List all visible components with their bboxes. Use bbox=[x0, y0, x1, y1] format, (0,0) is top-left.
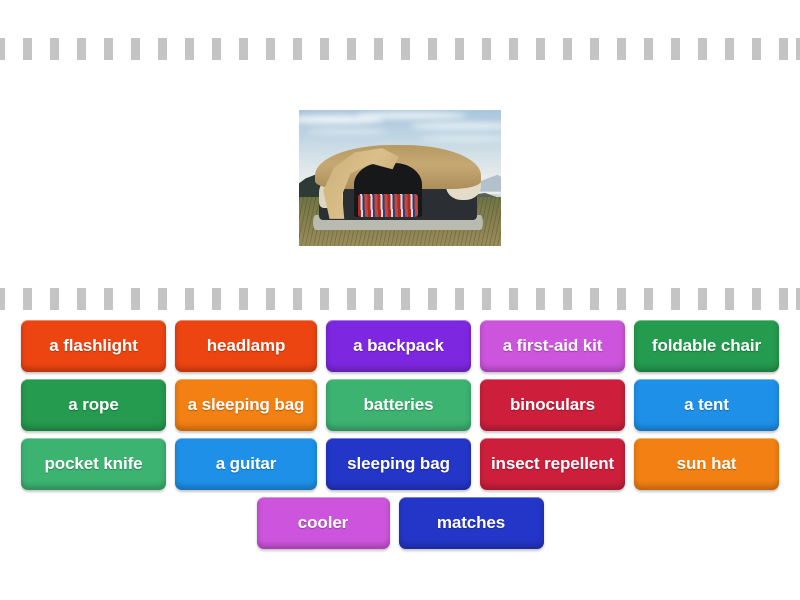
answer-tile[interactable]: matches bbox=[399, 497, 544, 549]
answer-tile[interactable]: batteries bbox=[326, 379, 471, 431]
answer-tile[interactable]: a guitar bbox=[175, 438, 317, 490]
prompt-image bbox=[299, 110, 501, 246]
photo-cloud bbox=[410, 122, 501, 130]
answer-tile[interactable]: sun hat bbox=[634, 438, 779, 490]
answer-tile[interactable]: headlamp bbox=[175, 320, 317, 372]
answer-tile[interactable]: a rope bbox=[21, 379, 166, 431]
answer-tile[interactable]: a first-aid kit bbox=[480, 320, 625, 372]
answer-tile[interactable]: insect repellent bbox=[480, 438, 625, 490]
top-dashed-rule bbox=[0, 38, 800, 60]
tent-photo bbox=[299, 110, 501, 246]
photo-tent-interior-gear bbox=[358, 194, 419, 217]
answer-tile[interactable]: cooler bbox=[257, 497, 390, 549]
tile-row: a flashlightheadlampa backpacka first-ai… bbox=[0, 320, 800, 372]
answer-tile[interactable]: a tent bbox=[634, 379, 779, 431]
answer-tile[interactable]: pocket knife bbox=[21, 438, 166, 490]
answer-tile[interactable]: a flashlight bbox=[21, 320, 166, 372]
tile-row: coolermatches bbox=[0, 497, 800, 549]
photo-cloud bbox=[356, 112, 467, 120]
tile-row: a ropea sleeping bagbatteriesbinocularsa… bbox=[0, 379, 800, 431]
answer-tile[interactable]: binoculars bbox=[480, 379, 625, 431]
tile-row: pocket knifea guitarsleeping baginsect r… bbox=[0, 438, 800, 490]
answer-tile[interactable]: a sleeping bag bbox=[175, 379, 317, 431]
answer-tile[interactable]: a backpack bbox=[326, 320, 471, 372]
answer-tile[interactable]: foldable chair bbox=[634, 320, 779, 372]
answer-tile-board: a flashlightheadlampa backpacka first-ai… bbox=[0, 320, 800, 556]
photo-cloud bbox=[307, 129, 388, 135]
photo-cloud bbox=[420, 135, 501, 142]
bottom-dashed-rule bbox=[0, 288, 800, 310]
answer-tile[interactable]: sleeping bag bbox=[326, 438, 471, 490]
